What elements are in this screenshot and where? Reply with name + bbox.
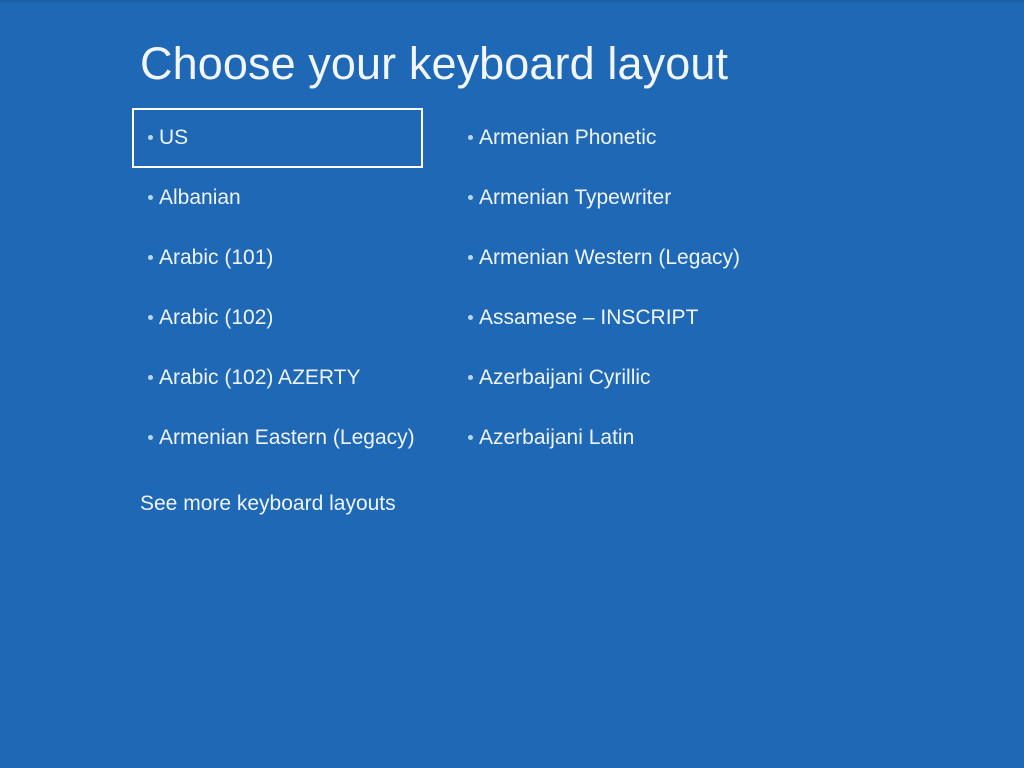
layout-option-label: Armenian Western (Legacy) xyxy=(479,245,740,271)
layout-option-assamese-inscript[interactable]: Assamese – INSCRIPT xyxy=(452,288,772,348)
bullet-icon xyxy=(148,375,153,380)
layout-option-armenian-western-legacy[interactable]: Armenian Western (Legacy) xyxy=(452,228,772,288)
layout-option-label: Arabic (102) AZERTY xyxy=(159,365,361,391)
layout-option-label: Arabic (101) xyxy=(159,245,273,271)
layout-option-label: Albanian xyxy=(159,185,241,211)
layout-option-armenian-eastern-legacy[interactable]: Armenian Eastern (Legacy) xyxy=(132,408,423,468)
layout-option-label: Arabic (102) xyxy=(159,305,273,331)
bullet-icon xyxy=(468,255,473,260)
layout-option-azerbaijani-latin[interactable]: Azerbaijani Latin xyxy=(452,408,772,468)
layout-option-label: Armenian Typewriter xyxy=(479,185,671,211)
bullet-icon xyxy=(468,135,473,140)
layout-option-label: Azerbaijani Latin xyxy=(479,425,634,451)
layout-option-label: US xyxy=(159,125,188,151)
bullet-icon xyxy=(148,195,153,200)
see-more-keyboard-layouts-link[interactable]: See more keyboard layouts xyxy=(140,489,396,519)
bullet-icon xyxy=(148,255,153,260)
layout-option-arabic-102[interactable]: Arabic (102) xyxy=(132,288,423,348)
keyboard-layout-column-right: Armenian Phonetic Armenian Typewriter Ar… xyxy=(452,108,772,468)
keyboard-layout-list: US Albanian Arabic (101) Arabic (102) Ar… xyxy=(0,0,1024,768)
layout-option-azerbaijani-cyrillic[interactable]: Azerbaijani Cyrillic xyxy=(452,348,772,408)
bullet-icon xyxy=(148,315,153,320)
keyboard-layout-column-left: US Albanian Arabic (101) Arabic (102) Ar… xyxy=(132,108,432,468)
layout-option-label: Assamese – INSCRIPT xyxy=(479,305,698,331)
bullet-icon xyxy=(468,315,473,320)
keyboard-layout-screen: Choose your keyboard layout US Albanian … xyxy=(0,0,1024,768)
layout-option-armenian-typewriter[interactable]: Armenian Typewriter xyxy=(452,168,772,228)
bullet-icon xyxy=(468,375,473,380)
layout-option-label: Armenian Eastern (Legacy) xyxy=(159,425,415,451)
layout-option-label: Azerbaijani Cyrillic xyxy=(479,365,651,391)
layout-option-label: Armenian Phonetic xyxy=(479,125,656,151)
layout-option-albanian[interactable]: Albanian xyxy=(132,168,423,228)
bullet-icon xyxy=(468,195,473,200)
bullet-icon xyxy=(148,435,153,440)
layout-option-armenian-phonetic[interactable]: Armenian Phonetic xyxy=(452,108,772,168)
bullet-icon xyxy=(468,435,473,440)
layout-option-arabic-102-azerty[interactable]: Arabic (102) AZERTY xyxy=(132,348,423,408)
layout-option-us[interactable]: US xyxy=(132,108,423,168)
bullet-icon xyxy=(148,135,153,140)
layout-option-arabic-101[interactable]: Arabic (101) xyxy=(132,228,423,288)
